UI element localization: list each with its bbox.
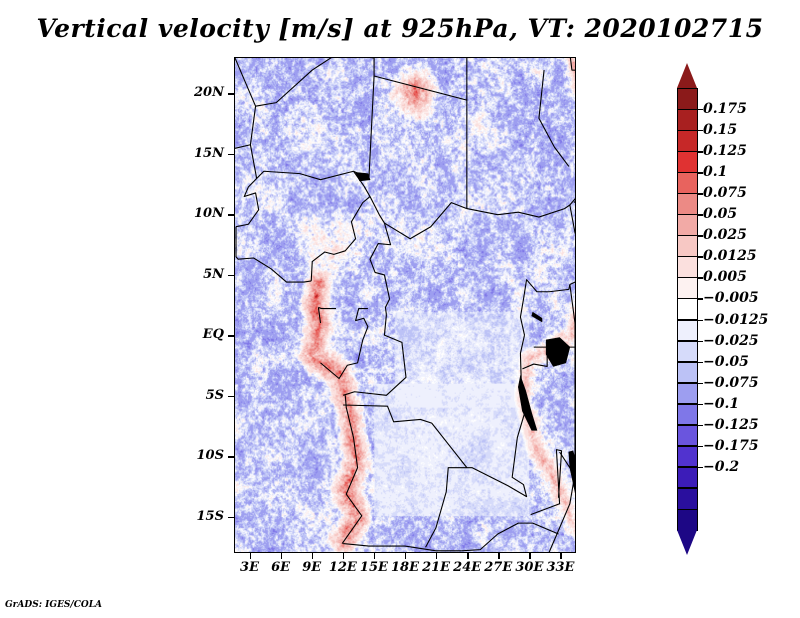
colorbar-tick xyxy=(698,130,703,131)
grads-credit: GrADS: IGES/COLA xyxy=(5,600,102,610)
border-line xyxy=(311,171,370,281)
colorbar-tick-label: 0.125 xyxy=(703,143,747,159)
border-line xyxy=(320,309,367,379)
colorbar-band xyxy=(677,109,698,131)
border-line xyxy=(522,347,547,369)
border-line xyxy=(574,160,575,202)
x-axis-tick xyxy=(498,553,499,559)
border-line xyxy=(338,58,467,100)
x-axis-tick xyxy=(436,553,437,559)
y-axis-tick-label: 10N xyxy=(194,206,224,221)
colorbar-tick-label: 0.15 xyxy=(703,122,737,138)
colorbar-tick xyxy=(698,298,703,299)
colorbar-band xyxy=(677,277,698,299)
colorbar-tick xyxy=(698,277,703,278)
colorbar-tick xyxy=(698,109,703,110)
y-axis-tick xyxy=(228,214,234,215)
border-line xyxy=(343,315,406,396)
border-line xyxy=(343,405,467,468)
colorbar-band xyxy=(677,341,698,363)
colorbar-band xyxy=(677,193,698,215)
colorbar-band xyxy=(677,509,698,531)
colorbar-tick-label: −0.075 xyxy=(703,375,759,391)
colorbar-band xyxy=(677,404,698,426)
border-line xyxy=(570,205,575,284)
colorbar-tick-label: −0.125 xyxy=(703,417,759,433)
border-line xyxy=(235,145,250,149)
border-line xyxy=(318,307,320,323)
border-line xyxy=(343,544,462,551)
colorbar-band xyxy=(677,88,698,110)
border-line xyxy=(467,118,575,217)
x-axis-tick xyxy=(374,553,375,559)
colorbar-tick-label: −0.0125 xyxy=(703,312,768,328)
x-axis-tick xyxy=(405,553,406,559)
y-axis-tick-label: 5S xyxy=(206,388,224,403)
y-axis-tick xyxy=(228,275,234,276)
y-axis-tick-label: 20N xyxy=(194,85,224,100)
colorbar-tick xyxy=(698,172,703,173)
colorbar-tick-label: 0.1 xyxy=(703,164,727,180)
border-line xyxy=(539,70,569,166)
colorbar-band xyxy=(677,214,698,236)
colorbar-tick-label: −0.025 xyxy=(703,333,759,349)
colorbar-tick-label: 0.0125 xyxy=(703,248,757,264)
colorbar: 0.1750.150.1250.10.0750.050.0250.01250.0… xyxy=(677,63,698,555)
x-axis-tick xyxy=(560,553,561,559)
colorbar-band xyxy=(677,488,698,510)
colorbar-tick-label: 0.175 xyxy=(703,101,747,117)
y-axis-tick xyxy=(228,456,234,457)
colorbar-band xyxy=(677,383,698,405)
colorbar-band xyxy=(677,151,698,173)
x-axis-tick xyxy=(312,553,313,559)
x-axis-tick-label: 33E xyxy=(538,560,582,575)
lake-malawi xyxy=(569,451,575,509)
page-title: Vertical velocity [m/s] at 925hPa, VT: 2… xyxy=(0,14,800,43)
border-line xyxy=(384,203,466,239)
colorbar-tick-label: 0.025 xyxy=(703,227,747,243)
colorbar-top-arrow xyxy=(677,63,697,88)
colorbar-band xyxy=(677,362,698,384)
border-line xyxy=(370,197,391,315)
lake-tanganyika xyxy=(518,376,537,430)
colorbar-tick xyxy=(698,362,703,363)
border-line xyxy=(236,179,259,227)
colorbar-band xyxy=(677,172,698,194)
y-axis-tick xyxy=(228,335,234,336)
y-axis-tick-label: EQ xyxy=(203,327,224,342)
colorbar-band xyxy=(677,467,698,489)
colorbar-band xyxy=(677,446,698,468)
colorbar-bottom-arrow xyxy=(677,530,697,555)
border-line xyxy=(250,76,374,180)
colorbar-tick-label: −0.175 xyxy=(703,438,759,454)
y-axis-tick-label: 15N xyxy=(194,146,224,161)
colorbar-tick xyxy=(698,446,703,447)
colorbar-tick-label: 0.075 xyxy=(703,185,747,201)
border-line xyxy=(318,307,336,308)
colorbar-band xyxy=(677,235,698,257)
lake-chad xyxy=(356,172,370,180)
colorbar-tick-label: −0.2 xyxy=(703,459,739,475)
border-line xyxy=(531,450,562,515)
colorbar-tick xyxy=(698,341,703,342)
border-line xyxy=(342,395,362,543)
colorbar-tick xyxy=(698,383,703,384)
colorbar-tick xyxy=(698,320,703,321)
y-axis-tick xyxy=(228,396,234,397)
y-axis-tick-label: 5N xyxy=(203,267,224,282)
x-axis-tick xyxy=(343,553,344,559)
colorbar-tick-label: −0.05 xyxy=(703,354,749,370)
colorbar-tick xyxy=(698,256,703,257)
border-line xyxy=(236,227,311,282)
colorbar-tick xyxy=(698,425,703,426)
y-axis-tick xyxy=(228,154,234,155)
colorbar-tick xyxy=(698,193,703,194)
border-line xyxy=(426,335,527,547)
x-axis-tick xyxy=(250,553,251,559)
country-borders-overlay xyxy=(235,58,575,552)
colorbar-tick xyxy=(698,467,703,468)
colorbar-band xyxy=(677,130,698,152)
x-axis-tick xyxy=(529,553,530,559)
y-axis-tick-label: 15S xyxy=(197,509,224,524)
colorbar-tick xyxy=(698,151,703,152)
colorbar-tick-label: 0.05 xyxy=(703,206,737,222)
border-line xyxy=(534,284,575,347)
x-axis-tick xyxy=(467,553,468,559)
colorbar-band xyxy=(677,256,698,278)
y-axis-tick-label: 10S xyxy=(197,448,224,463)
colorbar-tick-label: −0.1 xyxy=(703,396,739,412)
lake-victoria xyxy=(546,338,570,367)
y-axis-tick xyxy=(228,517,234,518)
colorbar-tick-label: 0.005 xyxy=(703,269,747,285)
border-line xyxy=(462,523,559,551)
colorbar-tick xyxy=(698,235,703,236)
border-line xyxy=(235,58,338,106)
lake-albert xyxy=(532,312,542,322)
colorbar-band xyxy=(677,320,698,342)
x-axis-tick xyxy=(281,553,282,559)
colorbar-tick xyxy=(698,404,703,405)
colorbar-band xyxy=(677,298,698,320)
border-line xyxy=(570,58,575,118)
colorbar-tick-label: −0.005 xyxy=(703,290,759,306)
border-line xyxy=(549,347,575,552)
map-plot-area xyxy=(234,57,576,553)
colorbar-tick xyxy=(698,214,703,215)
border-line xyxy=(520,280,569,335)
y-axis-tick xyxy=(228,93,234,94)
colorbar-band xyxy=(677,425,698,447)
